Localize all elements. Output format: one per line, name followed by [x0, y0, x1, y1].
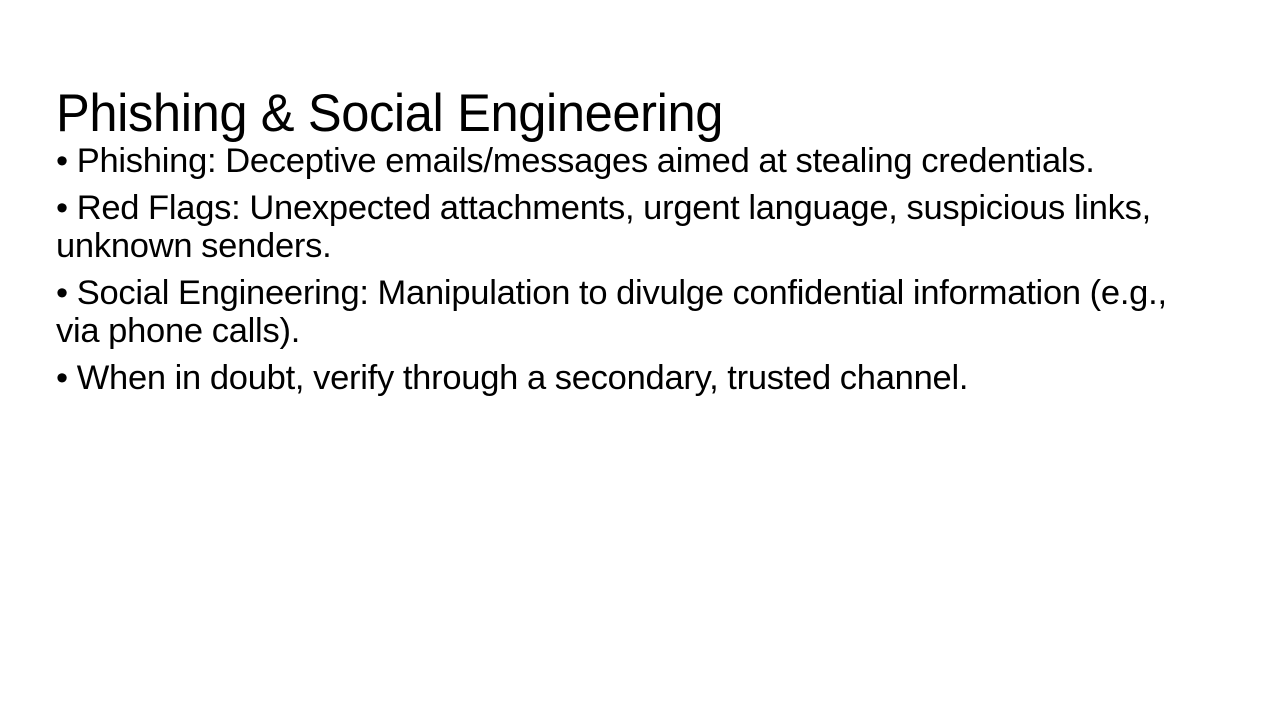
- list-item: • Red Flags: Unexpected attachments, urg…: [56, 189, 1190, 265]
- list-item-text: Social Engineering: Manipulation to divu…: [56, 274, 1167, 350]
- list-item-text: Red Flags: Unexpected attachments, urgen…: [56, 189, 1151, 265]
- list-item: • When in doubt, verify through a second…: [56, 359, 1190, 397]
- bullet-marker-icon: •: [56, 274, 68, 312]
- list-item-text: Phishing: Deceptive emails/messages aime…: [77, 142, 1095, 180]
- bullet-list: • Phishing: Deceptive emails/messages ai…: [56, 142, 1190, 397]
- slide-body: • Phishing: Deceptive emails/messages ai…: [56, 142, 1190, 397]
- page-title: Phishing & Social Engineering: [56, 84, 1145, 143]
- bullet-marker-icon: •: [56, 142, 68, 180]
- list-item-text: When in doubt, verify through a secondar…: [77, 359, 969, 397]
- slide-canvas: Phishing & Social Engineering • Phishing…: [0, 0, 1280, 720]
- bullet-marker-icon: •: [56, 189, 68, 227]
- bullet-marker-icon: •: [56, 359, 68, 397]
- list-item: • Social Engineering: Manipulation to di…: [56, 274, 1190, 350]
- list-item: • Phishing: Deceptive emails/messages ai…: [56, 142, 1190, 180]
